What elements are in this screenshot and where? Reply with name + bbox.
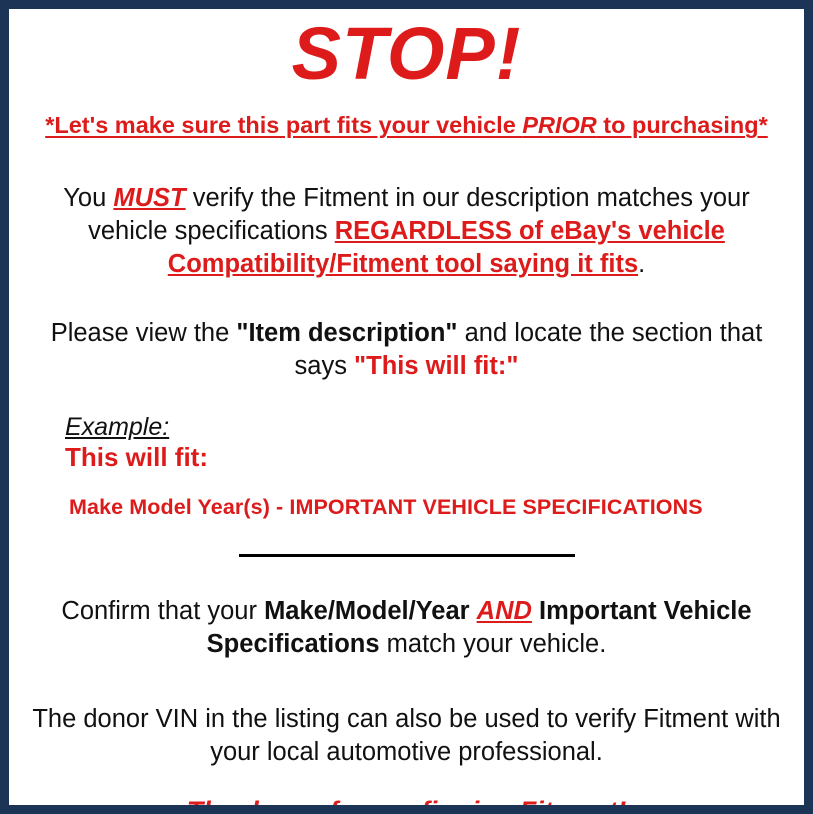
example-label-row: Example:	[65, 413, 792, 442]
subheading-suffix: to purchasing*	[597, 112, 768, 138]
emphasis-item-description: "Item description"	[236, 319, 457, 347]
emphasis-make-model-year: Make/Model/Year	[264, 597, 470, 625]
divider-wrapper	[21, 521, 792, 565]
notice-card-body: STOP! *Let's make sure this part fits yo…	[9, 9, 804, 805]
must-verify-paragraph: You MUST verify the Fitment in our descr…	[21, 140, 792, 281]
donor-vin-paragraph: The donor VIN in the listing can also be…	[21, 661, 792, 769]
subheading-prefix: *Let's make sure this part fits your veh…	[45, 112, 522, 138]
must-paragraph-part1: You	[63, 184, 113, 212]
item-description-paragraph: Please view the "Item description" and l…	[21, 281, 792, 383]
please-paragraph-part1: Please view the	[51, 319, 237, 347]
emphasis-and: AND	[477, 597, 532, 625]
example-spec-line: Make Model Year(s) - IMPORTANT VEHICLE S…	[65, 473, 792, 521]
emphasis-must: MUST	[113, 184, 185, 212]
confirm-paragraph-part2: match your vehicle.	[380, 630, 607, 658]
fitment-notice-card: STOP! *Let's make sure this part fits yo…	[0, 0, 813, 814]
emphasis-this-will-fit: "This will fit:"	[354, 352, 518, 380]
page-title: STOP!	[21, 9, 792, 93]
confirm-paragraph-part1: Confirm that your	[61, 597, 264, 625]
must-paragraph-period: .	[638, 250, 645, 278]
example-block: Example: This will fit: Make Model Year(…	[21, 383, 792, 520]
confirm-paragraph: Confirm that your Make/Model/Year AND Im…	[21, 565, 792, 661]
closing-thank-you: Thank you for confirming Fitment!	[21, 769, 792, 814]
horizontal-divider	[239, 554, 575, 557]
example-fit-heading: This will fit:	[65, 442, 792, 473]
example-label: Example:	[65, 413, 169, 442]
subheading-verify-fitment: *Let's make sure this part fits your veh…	[21, 93, 792, 139]
subheading-emphasis-prior: PRIOR	[522, 112, 596, 138]
